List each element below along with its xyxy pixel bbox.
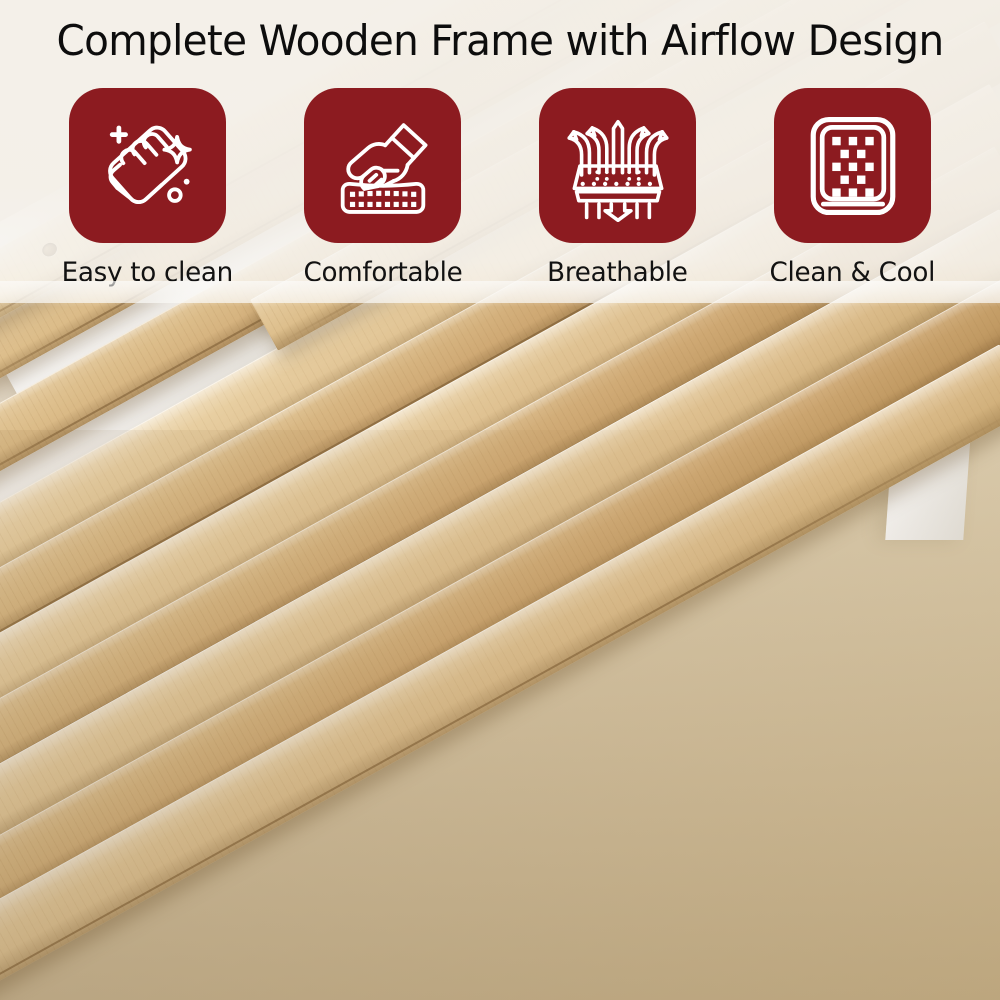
product-feature-banner: Complete Wooden Frame with Airflow Desig… <box>0 0 1000 1000</box>
feature-item-clean-and-cool[interactable]: Clean & Cool <box>774 88 931 288</box>
feature-item-comfortable[interactable]: Comfortable <box>304 88 461 288</box>
feature-list: Easy to clean <box>0 88 1000 288</box>
feature-item-easy-to-clean[interactable]: Easy to clean <box>69 88 226 288</box>
airflow-arrows-mattress-icon <box>562 110 674 222</box>
hand-wiping-cloth-sparkle-icon <box>92 110 204 222</box>
hand-pressing-mattress-icon <box>327 110 439 222</box>
feature-label-comfortable: Comfortable <box>303 257 462 288</box>
feature-badge-easy-to-clean[interactable] <box>69 88 226 243</box>
feature-label-easy-to-clean: Easy to clean <box>62 257 233 288</box>
page-title: Complete Wooden Frame with Airflow Desig… <box>18 16 983 65</box>
feature-badge-breathable[interactable] <box>539 88 696 243</box>
feature-badge-clean-and-cool[interactable] <box>774 88 931 243</box>
tufted-mattress-grid-icon <box>797 110 909 222</box>
feature-label-clean-and-cool: Clean & Cool <box>770 257 936 288</box>
feature-label-breathable: Breathable <box>547 257 687 288</box>
header-overlay: Complete Wooden Frame with Airflow Desig… <box>0 0 1000 303</box>
feature-badge-comfortable[interactable] <box>304 88 461 243</box>
feature-item-breathable[interactable]: Breathable <box>539 88 696 288</box>
